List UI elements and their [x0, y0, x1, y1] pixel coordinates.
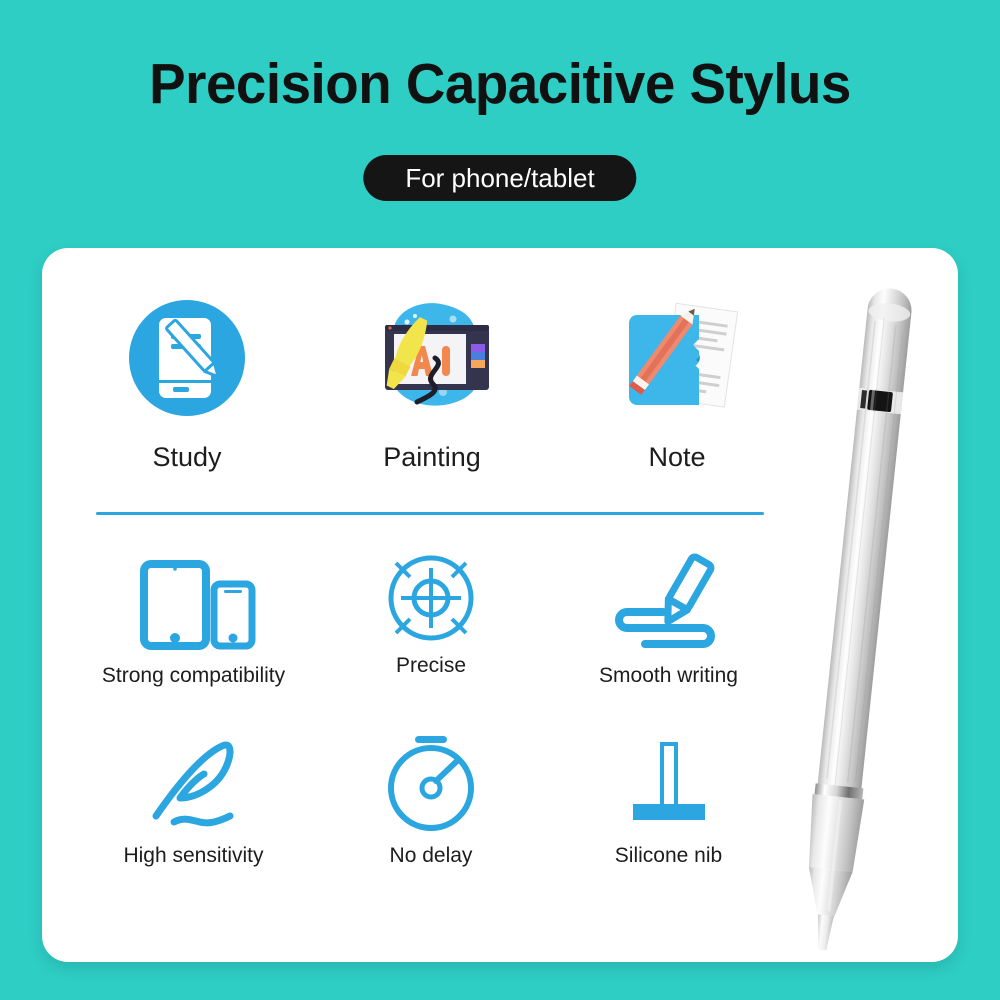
- feature-label: Precise: [324, 654, 539, 678]
- pen-stroke-icon: [561, 548, 776, 656]
- use-case-label: Study: [92, 442, 282, 473]
- stopwatch-icon: [324, 728, 539, 836]
- crosshair-target-icon: [324, 548, 539, 648]
- page-title: Precision Capacitive Stylus: [20, 52, 980, 116]
- section-divider: [96, 512, 764, 515]
- subtitle-badge: For phone/tablet: [363, 155, 636, 201]
- feature-card: Study: [42, 248, 958, 962]
- feature-strong-compatibility[interactable]: Strong compatibility: [86, 548, 301, 688]
- disc-nib-icon: [561, 728, 776, 836]
- tablet-phone-devices-icon: [86, 548, 301, 656]
- feature-label: High sensitivity: [86, 844, 301, 868]
- study-phone-pen-icon: [92, 288, 282, 428]
- use-case-label: Painting: [337, 442, 527, 473]
- feature-precise[interactable]: Precise: [324, 548, 539, 688]
- use-case-label: Note: [582, 442, 772, 473]
- feature-row-2: High sensitivity No delay Silicone n: [86, 728, 776, 868]
- feature-smooth-writing[interactable]: Smooth writing: [561, 548, 776, 688]
- feature-label: Silicone nib: [561, 844, 776, 868]
- feature-label: Strong compatibility: [86, 664, 301, 688]
- note-folder-pencil-icon: [582, 288, 772, 428]
- feature-label: Smooth writing: [561, 664, 776, 688]
- feather-quill-icon: [86, 728, 301, 836]
- feature-no-delay[interactable]: No delay: [324, 728, 539, 868]
- feature-high-sensitivity[interactable]: High sensitivity: [86, 728, 301, 868]
- use-case-note[interactable]: Note: [582, 288, 772, 473]
- feature-row-1: Strong compatibility Precise: [86, 548, 776, 688]
- use-case-painting[interactable]: Painting: [337, 288, 527, 473]
- feature-label: No delay: [324, 844, 539, 868]
- use-case-row: Study: [92, 288, 772, 473]
- painting-tablet-brush-icon: [337, 288, 527, 428]
- feature-silicone-nib[interactable]: Silicone nib: [561, 728, 776, 868]
- use-case-study[interactable]: Study: [92, 288, 282, 473]
